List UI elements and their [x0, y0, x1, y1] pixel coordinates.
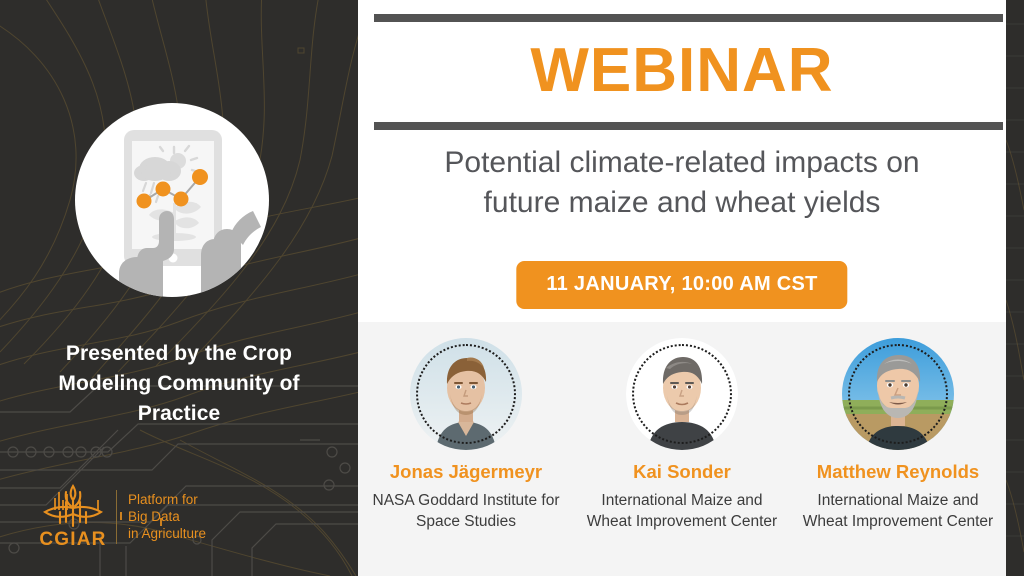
- speakers-section: Jonas Jägermeyr NASA Goddard Institute f…: [358, 322, 1006, 576]
- presented-by-text: Presented by the Crop Modeling Community…: [18, 339, 340, 429]
- cgiar-wordmark: CGIAR: [39, 529, 106, 551]
- speaker-card: Matthew Reynolds International Maize and…: [798, 338, 998, 532]
- avatar-dotted-ring: [416, 344, 516, 444]
- avatar-jonas-jagermeyr: [410, 338, 522, 450]
- cgiar-wheat-emblem: [42, 482, 104, 528]
- speaker-name: Kai Sonder: [582, 460, 782, 484]
- cgiar-logo-lockup: CGIAR Platform for Big Data in Agricultu…: [38, 482, 206, 551]
- divider-bar-top: [374, 14, 1003, 22]
- speaker-card: Jonas Jägermeyr NASA Goddard Institute f…: [366, 338, 566, 532]
- right-strip-texture: [1006, 0, 1024, 576]
- cgiar-tagline-line3: in Agriculture: [128, 525, 206, 542]
- webinar-poster: Presented by the Crop Modeling Community…: [0, 0, 1024, 576]
- speaker-organization: International Maize and Wheat Improvemen…: [798, 490, 998, 532]
- avatar-kai-sonder: [626, 338, 738, 450]
- speaker-name: Jonas Jägermeyr: [366, 460, 566, 484]
- tablet-crop-data-illustration: [75, 103, 269, 297]
- date-time-badge: 11 JANUARY, 10:00 AM CST: [516, 261, 847, 309]
- right-edge-dark-strip: [1006, 0, 1024, 576]
- speaker-card: Kai Sonder International Maize and Wheat…: [582, 338, 782, 532]
- cgiar-tagline-line1: Platform for: [128, 491, 206, 508]
- left-branding-panel: Presented by the Crop Modeling Community…: [0, 0, 358, 576]
- speaker-organization: NASA Goddard Institute for Space Studies: [366, 490, 566, 532]
- cgiar-tagline: Platform for Big Data in Agriculture: [128, 491, 206, 542]
- avatar-dotted-ring: [848, 344, 948, 444]
- avatar-dotted-ring: [632, 344, 732, 444]
- cgiar-divider: [116, 490, 117, 544]
- cgiar-mark: CGIAR: [38, 482, 108, 551]
- cgiar-tagline-line2: Big Data: [128, 508, 206, 525]
- speaker-organization: International Maize and Wheat Improvemen…: [582, 490, 782, 532]
- speaker-name: Matthew Reynolds: [798, 460, 998, 484]
- divider-bar-bottom: [374, 122, 1003, 130]
- webinar-subtitle: Potential climate-related impacts on fut…: [418, 143, 946, 223]
- page-title: WEBINAR: [358, 36, 1006, 106]
- avatar-matthew-reynolds: [842, 338, 954, 450]
